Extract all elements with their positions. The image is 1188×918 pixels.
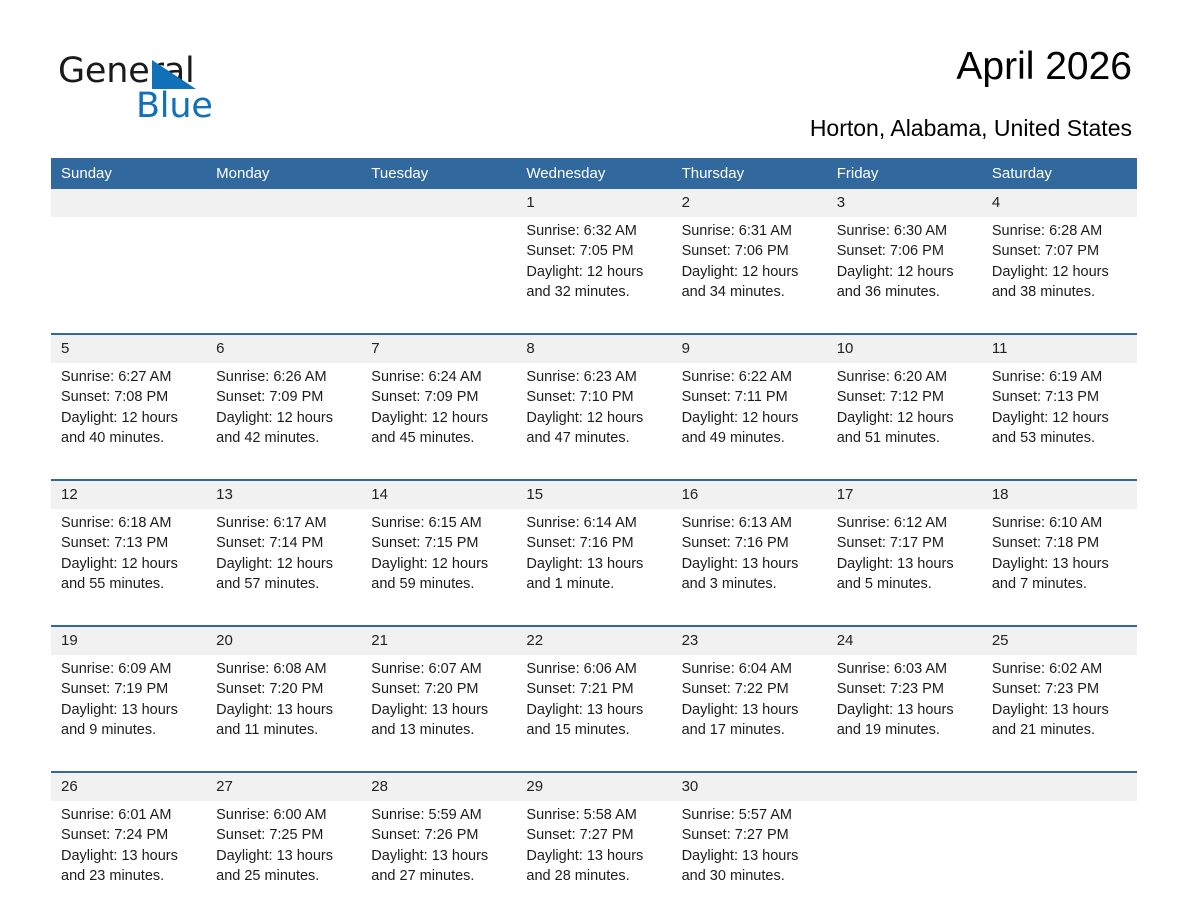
day-detail-line: Sunset: 7:27 PM bbox=[682, 825, 819, 845]
day-detail-line: Sunset: 7:06 PM bbox=[837, 241, 974, 261]
day-detail-line: Sunset: 7:26 PM bbox=[371, 825, 508, 845]
day-number[interactable]: 18 bbox=[982, 480, 1137, 509]
day-number[interactable]: 29 bbox=[516, 772, 671, 801]
day-detail-line: Sunrise: 6:10 AM bbox=[992, 513, 1129, 533]
calendar-week-details: Sunrise: 6:32 AMSunset: 7:05 PMDaylight:… bbox=[51, 217, 1137, 334]
day-detail-line: and 36 minutes. bbox=[837, 282, 974, 302]
day-detail-line: Sunset: 7:16 PM bbox=[526, 533, 663, 553]
day-number[interactable]: 3 bbox=[827, 189, 982, 217]
day-detail-line: Sunset: 7:22 PM bbox=[682, 679, 819, 699]
day-cell-details[interactable]: Sunrise: 6:01 AMSunset: 7:24 PMDaylight:… bbox=[51, 801, 206, 917]
day-number[interactable]: 22 bbox=[516, 626, 671, 655]
day-detail-line: Sunset: 7:17 PM bbox=[837, 533, 974, 553]
day-cell-details[interactable]: Sunrise: 6:04 AMSunset: 7:22 PMDaylight:… bbox=[672, 655, 827, 772]
day-detail-line: Sunrise: 6:07 AM bbox=[371, 659, 508, 679]
day-detail-line: Sunset: 7:15 PM bbox=[371, 533, 508, 553]
day-detail-line: Sunrise: 6:13 AM bbox=[682, 513, 819, 533]
day-detail-line: Sunset: 7:16 PM bbox=[682, 533, 819, 553]
calendar-body: 1234Sunrise: 6:32 AMSunset: 7:05 PMDayli… bbox=[51, 189, 1137, 917]
day-cell-details[interactable]: Sunrise: 6:08 AMSunset: 7:20 PMDaylight:… bbox=[206, 655, 361, 772]
general-blue-logo[interactable]: General Blue bbox=[58, 52, 278, 124]
day-detail-line: Sunset: 7:27 PM bbox=[526, 825, 663, 845]
day-number[interactable]: 16 bbox=[672, 480, 827, 509]
day-detail-line: Daylight: 12 hours bbox=[682, 408, 819, 428]
day-detail-line: Sunrise: 5:59 AM bbox=[371, 805, 508, 825]
day-detail-line: Sunrise: 6:24 AM bbox=[371, 367, 508, 387]
day-number[interactable]: 15 bbox=[516, 480, 671, 509]
day-detail-line: Sunset: 7:09 PM bbox=[216, 387, 353, 407]
day-detail-line: Daylight: 12 hours bbox=[216, 408, 353, 428]
day-detail-line: Sunrise: 6:26 AM bbox=[216, 367, 353, 387]
calendar-week-daynumbers: 2627282930 bbox=[51, 772, 1137, 801]
day-cell-details[interactable]: Sunrise: 5:59 AMSunset: 7:26 PMDaylight:… bbox=[361, 801, 516, 917]
day-detail-line: Daylight: 13 hours bbox=[682, 554, 819, 574]
day-detail-line: Sunset: 7:18 PM bbox=[992, 533, 1129, 553]
day-cell-empty bbox=[827, 801, 982, 917]
day-detail-line: Daylight: 13 hours bbox=[61, 700, 198, 720]
day-cell-details[interactable]: Sunrise: 6:19 AMSunset: 7:13 PMDaylight:… bbox=[982, 363, 1137, 480]
day-detail-line: Daylight: 13 hours bbox=[992, 700, 1129, 720]
day-detail-line: Daylight: 13 hours bbox=[526, 700, 663, 720]
day-cell-details[interactable]: Sunrise: 6:24 AMSunset: 7:09 PMDaylight:… bbox=[361, 363, 516, 480]
day-cell-details[interactable]: Sunrise: 5:58 AMSunset: 7:27 PMDaylight:… bbox=[516, 801, 671, 917]
day-detail-line: and 42 minutes. bbox=[216, 428, 353, 448]
day-detail-line: and 57 minutes. bbox=[216, 574, 353, 594]
calendar-week-daynumbers: 12131415161718 bbox=[51, 480, 1137, 509]
day-number[interactable]: 26 bbox=[51, 772, 206, 801]
day-cell-details[interactable]: Sunrise: 6:00 AMSunset: 7:25 PMDaylight:… bbox=[206, 801, 361, 917]
day-detail-line: Sunset: 7:19 PM bbox=[61, 679, 198, 699]
day-detail-line: Daylight: 13 hours bbox=[682, 846, 819, 866]
day-detail-line: Sunrise: 6:14 AM bbox=[526, 513, 663, 533]
day-detail-line: Sunrise: 6:32 AM bbox=[526, 221, 663, 241]
day-detail-line: Daylight: 13 hours bbox=[371, 846, 508, 866]
day-detail-line: Daylight: 12 hours bbox=[992, 262, 1129, 282]
day-detail-line: and 32 minutes. bbox=[526, 282, 663, 302]
day-cell-details[interactable]: Sunrise: 6:02 AMSunset: 7:23 PMDaylight:… bbox=[982, 655, 1137, 772]
weekday-header-wednesday: Wednesday bbox=[516, 158, 671, 189]
day-number-empty bbox=[206, 189, 361, 217]
day-detail-line: Sunrise: 5:57 AM bbox=[682, 805, 819, 825]
day-detail-line: Daylight: 12 hours bbox=[216, 554, 353, 574]
day-cell-details[interactable]: Sunrise: 6:18 AMSunset: 7:13 PMDaylight:… bbox=[51, 509, 206, 626]
day-number-empty bbox=[982, 772, 1137, 801]
day-detail-line: Sunrise: 6:18 AM bbox=[61, 513, 198, 533]
day-detail-line: Daylight: 13 hours bbox=[371, 700, 508, 720]
day-detail-line: and 53 minutes. bbox=[992, 428, 1129, 448]
day-cell-details[interactable]: Sunrise: 6:28 AMSunset: 7:07 PMDaylight:… bbox=[982, 217, 1137, 334]
day-cell-details[interactable]: Sunrise: 6:07 AMSunset: 7:20 PMDaylight:… bbox=[361, 655, 516, 772]
day-number[interactable]: 14 bbox=[361, 480, 516, 509]
day-detail-line: and 23 minutes. bbox=[61, 866, 198, 886]
day-number[interactable]: 6 bbox=[206, 334, 361, 363]
day-detail-line: and 45 minutes. bbox=[371, 428, 508, 448]
day-cell-details[interactable]: Sunrise: 6:06 AMSunset: 7:21 PMDaylight:… bbox=[516, 655, 671, 772]
day-detail-line: Sunrise: 6:04 AM bbox=[682, 659, 819, 679]
day-cell-empty bbox=[206, 217, 361, 334]
day-cell-empty bbox=[982, 801, 1137, 917]
day-cell-details[interactable]: Sunrise: 6:22 AMSunset: 7:11 PMDaylight:… bbox=[672, 363, 827, 480]
logo-text-blue: Blue bbox=[136, 87, 213, 125]
day-detail-line: Sunrise: 6:28 AM bbox=[992, 221, 1129, 241]
day-detail-line: and 28 minutes. bbox=[526, 866, 663, 886]
day-detail-line: Sunset: 7:07 PM bbox=[992, 241, 1129, 261]
day-detail-line: Daylight: 12 hours bbox=[526, 262, 663, 282]
day-number[interactable]: 30 bbox=[672, 772, 827, 801]
day-detail-line: and 38 minutes. bbox=[992, 282, 1129, 302]
day-detail-line: and 11 minutes. bbox=[216, 720, 353, 740]
calendar-week-details: Sunrise: 6:18 AMSunset: 7:13 PMDaylight:… bbox=[51, 509, 1137, 626]
weekday-header-tuesday: Tuesday bbox=[361, 158, 516, 189]
day-detail-line: Sunset: 7:20 PM bbox=[371, 679, 508, 699]
day-detail-line: Sunrise: 6:00 AM bbox=[216, 805, 353, 825]
calendar-container: Sunday Monday Tuesday Wednesday Thursday… bbox=[51, 158, 1137, 917]
day-detail-line: Sunset: 7:13 PM bbox=[992, 387, 1129, 407]
calendar-week-daynumbers: 567891011 bbox=[51, 334, 1137, 363]
day-detail-line: Daylight: 13 hours bbox=[992, 554, 1129, 574]
day-detail-line: Daylight: 12 hours bbox=[992, 408, 1129, 428]
day-detail-line: Sunset: 7:06 PM bbox=[682, 241, 819, 261]
calendar-week-details: Sunrise: 6:01 AMSunset: 7:24 PMDaylight:… bbox=[51, 801, 1137, 917]
day-detail-line: Sunrise: 6:02 AM bbox=[992, 659, 1129, 679]
day-detail-line: and 27 minutes. bbox=[371, 866, 508, 886]
day-detail-line: and 21 minutes. bbox=[992, 720, 1129, 740]
day-detail-line: and 47 minutes. bbox=[526, 428, 663, 448]
calendar-week-details: Sunrise: 6:09 AMSunset: 7:19 PMDaylight:… bbox=[51, 655, 1137, 772]
day-cell-details[interactable]: Sunrise: 6:17 AMSunset: 7:14 PMDaylight:… bbox=[206, 509, 361, 626]
day-detail-line: Sunrise: 6:12 AM bbox=[837, 513, 974, 533]
day-detail-line: and 55 minutes. bbox=[61, 574, 198, 594]
day-number[interactable]: 8 bbox=[516, 334, 671, 363]
calendar-table: Sunday Monday Tuesday Wednesday Thursday… bbox=[51, 158, 1137, 917]
day-cell-details[interactable]: Sunrise: 6:13 AMSunset: 7:16 PMDaylight:… bbox=[672, 509, 827, 626]
calendar-weekday-header: Sunday Monday Tuesday Wednesday Thursday… bbox=[51, 158, 1137, 189]
day-detail-line: and 49 minutes. bbox=[682, 428, 819, 448]
day-detail-line: and 7 minutes. bbox=[992, 574, 1129, 594]
day-number-empty bbox=[51, 189, 206, 217]
day-number[interactable]: 1 bbox=[516, 189, 671, 217]
weekday-header-sunday: Sunday bbox=[51, 158, 206, 189]
day-number[interactable]: 25 bbox=[982, 626, 1137, 655]
day-number-empty bbox=[361, 189, 516, 217]
day-detail-line: Sunset: 7:05 PM bbox=[526, 241, 663, 261]
day-cell-details[interactable]: Sunrise: 6:31 AMSunset: 7:06 PMDaylight:… bbox=[672, 217, 827, 334]
day-number[interactable]: 5 bbox=[51, 334, 206, 363]
day-detail-line: Sunrise: 6:23 AM bbox=[526, 367, 663, 387]
day-detail-line: Sunset: 7:12 PM bbox=[837, 387, 974, 407]
day-cell-empty bbox=[361, 217, 516, 334]
calendar-week-daynumbers: 1234 bbox=[51, 189, 1137, 217]
day-detail-line: Daylight: 12 hours bbox=[837, 408, 974, 428]
day-cell-details[interactable]: Sunrise: 6:10 AMSunset: 7:18 PMDaylight:… bbox=[982, 509, 1137, 626]
day-detail-line: Sunrise: 5:58 AM bbox=[526, 805, 663, 825]
day-number[interactable]: 19 bbox=[51, 626, 206, 655]
day-detail-line: Sunrise: 6:17 AM bbox=[216, 513, 353, 533]
day-detail-line: and 3 minutes. bbox=[682, 574, 819, 594]
day-cell-details[interactable]: Sunrise: 6:14 AMSunset: 7:16 PMDaylight:… bbox=[516, 509, 671, 626]
day-detail-line: Daylight: 12 hours bbox=[682, 262, 819, 282]
day-number[interactable]: 11 bbox=[982, 334, 1137, 363]
day-detail-line: Sunrise: 6:20 AM bbox=[837, 367, 974, 387]
day-cell-details[interactable]: Sunrise: 6:26 AMSunset: 7:09 PMDaylight:… bbox=[206, 363, 361, 480]
day-detail-line: Daylight: 12 hours bbox=[371, 554, 508, 574]
day-detail-line: Daylight: 13 hours bbox=[216, 846, 353, 866]
day-detail-line: Sunset: 7:23 PM bbox=[992, 679, 1129, 699]
day-detail-line: Sunrise: 6:19 AM bbox=[992, 367, 1129, 387]
day-detail-line: Sunrise: 6:08 AM bbox=[216, 659, 353, 679]
day-number-empty bbox=[827, 772, 982, 801]
day-detail-line: Sunrise: 6:15 AM bbox=[371, 513, 508, 533]
day-detail-line: Daylight: 13 hours bbox=[216, 700, 353, 720]
day-number[interactable]: 23 bbox=[672, 626, 827, 655]
day-number[interactable]: 20 bbox=[206, 626, 361, 655]
day-detail-line: and 59 minutes. bbox=[371, 574, 508, 594]
day-detail-line: Daylight: 12 hours bbox=[837, 262, 974, 282]
day-detail-line: and 13 minutes. bbox=[371, 720, 508, 740]
day-detail-line: and 25 minutes. bbox=[216, 866, 353, 886]
day-detail-line: and 19 minutes. bbox=[837, 720, 974, 740]
weekday-header-monday: Monday bbox=[206, 158, 361, 189]
day-detail-line: Daylight: 12 hours bbox=[61, 554, 198, 574]
weekday-header-row: Sunday Monday Tuesday Wednesday Thursday… bbox=[51, 158, 1137, 189]
weekday-header-saturday: Saturday bbox=[982, 158, 1137, 189]
day-detail-line: Sunrise: 6:31 AM bbox=[682, 221, 819, 241]
day-number[interactable]: 28 bbox=[361, 772, 516, 801]
weekday-header-friday: Friday bbox=[827, 158, 982, 189]
day-detail-line: and 51 minutes. bbox=[837, 428, 974, 448]
day-detail-line: Sunset: 7:10 PM bbox=[526, 387, 663, 407]
day-cell-details[interactable]: Sunrise: 6:12 AMSunset: 7:17 PMDaylight:… bbox=[827, 509, 982, 626]
day-detail-line: Daylight: 13 hours bbox=[682, 700, 819, 720]
day-detail-line: Sunrise: 6:03 AM bbox=[837, 659, 974, 679]
day-detail-line: and 9 minutes. bbox=[61, 720, 198, 740]
day-detail-line: and 30 minutes. bbox=[682, 866, 819, 886]
day-number[interactable]: 10 bbox=[827, 334, 982, 363]
day-number[interactable]: 7 bbox=[361, 334, 516, 363]
day-detail-line: Daylight: 13 hours bbox=[61, 846, 198, 866]
day-detail-line: Daylight: 13 hours bbox=[526, 846, 663, 866]
day-cell-details[interactable]: Sunrise: 6:32 AMSunset: 7:05 PMDaylight:… bbox=[516, 217, 671, 334]
page-header: General Blue April 2026 Horton, Alabama,… bbox=[0, 0, 1188, 156]
calendar-week-details: Sunrise: 6:27 AMSunset: 7:08 PMDaylight:… bbox=[51, 363, 1137, 480]
day-detail-line: Sunset: 7:11 PM bbox=[682, 387, 819, 407]
day-detail-line: Daylight: 12 hours bbox=[371, 408, 508, 428]
day-detail-line: Sunrise: 6:27 AM bbox=[61, 367, 198, 387]
day-detail-line: Sunrise: 6:06 AM bbox=[526, 659, 663, 679]
page-title: April 2026 bbox=[956, 44, 1132, 90]
day-cell-details[interactable]: Sunrise: 6:27 AMSunset: 7:08 PMDaylight:… bbox=[51, 363, 206, 480]
day-detail-line: Daylight: 12 hours bbox=[61, 408, 198, 428]
day-detail-line: Sunset: 7:14 PM bbox=[216, 533, 353, 553]
day-cell-details[interactable]: Sunrise: 6:23 AMSunset: 7:10 PMDaylight:… bbox=[516, 363, 671, 480]
day-number[interactable]: 12 bbox=[51, 480, 206, 509]
weekday-header-thursday: Thursday bbox=[672, 158, 827, 189]
day-cell-details[interactable]: Sunrise: 5:57 AMSunset: 7:27 PMDaylight:… bbox=[672, 801, 827, 917]
day-detail-line: Sunset: 7:08 PM bbox=[61, 387, 198, 407]
calendar-week-daynumbers: 19202122232425 bbox=[51, 626, 1137, 655]
day-detail-line: Sunrise: 6:01 AM bbox=[61, 805, 198, 825]
day-detail-line: Sunset: 7:25 PM bbox=[216, 825, 353, 845]
day-detail-line: Daylight: 13 hours bbox=[526, 554, 663, 574]
day-number[interactable]: 9 bbox=[672, 334, 827, 363]
day-detail-line: Sunset: 7:20 PM bbox=[216, 679, 353, 699]
calendar-page: General Blue April 2026 Horton, Alabama,… bbox=[0, 0, 1188, 918]
day-number[interactable]: 2 bbox=[672, 189, 827, 217]
day-number[interactable]: 13 bbox=[206, 480, 361, 509]
day-detail-line: Daylight: 12 hours bbox=[526, 408, 663, 428]
day-detail-line: and 15 minutes. bbox=[526, 720, 663, 740]
day-detail-line: Sunset: 7:21 PM bbox=[526, 679, 663, 699]
day-detail-line: Sunset: 7:24 PM bbox=[61, 825, 198, 845]
day-number[interactable]: 24 bbox=[827, 626, 982, 655]
day-cell-empty bbox=[51, 217, 206, 334]
day-detail-line: Sunrise: 6:22 AM bbox=[682, 367, 819, 387]
day-cell-details[interactable]: Sunrise: 6:09 AMSunset: 7:19 PMDaylight:… bbox=[51, 655, 206, 772]
day-cell-details[interactable]: Sunrise: 6:03 AMSunset: 7:23 PMDaylight:… bbox=[827, 655, 982, 772]
day-cell-details[interactable]: Sunrise: 6:30 AMSunset: 7:06 PMDaylight:… bbox=[827, 217, 982, 334]
day-detail-line: Sunset: 7:23 PM bbox=[837, 679, 974, 699]
day-detail-line: and 5 minutes. bbox=[837, 574, 974, 594]
day-detail-line: Sunrise: 6:30 AM bbox=[837, 221, 974, 241]
day-cell-details[interactable]: Sunrise: 6:20 AMSunset: 7:12 PMDaylight:… bbox=[827, 363, 982, 480]
day-detail-line: Sunrise: 6:09 AM bbox=[61, 659, 198, 679]
day-detail-line: Sunset: 7:09 PM bbox=[371, 387, 508, 407]
day-cell-details[interactable]: Sunrise: 6:15 AMSunset: 7:15 PMDaylight:… bbox=[361, 509, 516, 626]
location-subtitle: Horton, Alabama, United States bbox=[810, 114, 1132, 142]
day-detail-line: Daylight: 13 hours bbox=[837, 700, 974, 720]
day-detail-line: and 34 minutes. bbox=[682, 282, 819, 302]
day-number[interactable]: 21 bbox=[361, 626, 516, 655]
day-detail-line: Sunset: 7:13 PM bbox=[61, 533, 198, 553]
day-detail-line: and 40 minutes. bbox=[61, 428, 198, 448]
day-number[interactable]: 17 bbox=[827, 480, 982, 509]
day-number[interactable]: 4 bbox=[982, 189, 1137, 217]
day-detail-line: and 17 minutes. bbox=[682, 720, 819, 740]
day-detail-line: Daylight: 13 hours bbox=[837, 554, 974, 574]
day-detail-line: and 1 minute. bbox=[526, 574, 663, 594]
day-number[interactable]: 27 bbox=[206, 772, 361, 801]
